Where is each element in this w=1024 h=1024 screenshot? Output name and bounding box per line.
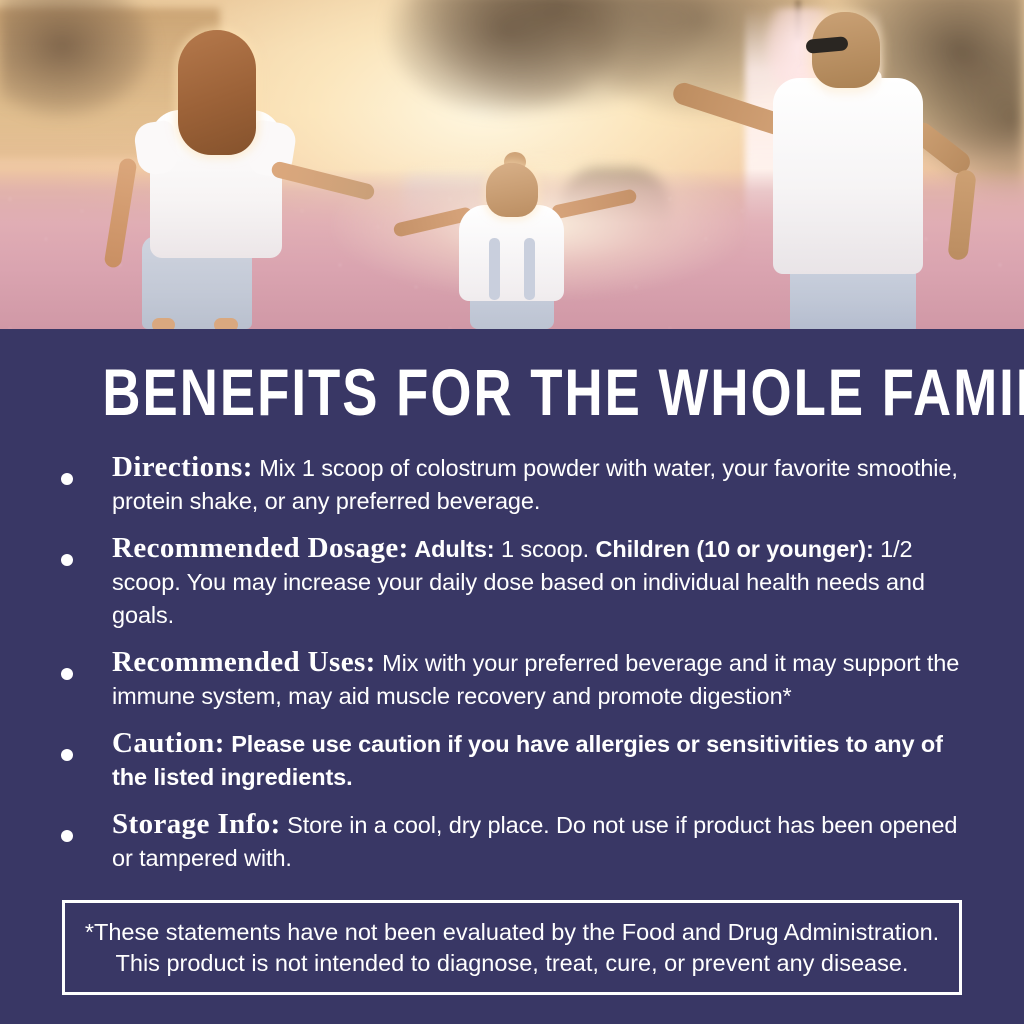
dosage-children-label: Children (10 or younger): <box>595 536 873 562</box>
girl-leg-left <box>152 318 175 329</box>
toddler-hair <box>486 163 538 217</box>
list-item-recommended-uses: Recommended Uses: Mix with your preferre… <box>52 646 982 713</box>
list-item-caution: Caution: Please use caution if you have … <box>52 727 982 794</box>
fda-disclaimer-box: *These statements have not been evaluate… <box>62 900 962 995</box>
list-item-label: Storage Info: <box>112 808 281 840</box>
list-item-label: Recommended Uses: <box>112 646 376 678</box>
list-item-storage-info: Storage Info: Store in a cool, dry place… <box>52 808 982 875</box>
bullet-dot-icon <box>61 473 73 485</box>
info-panel: BENEFITS FOR THE WHOLE FAMILY Directions… <box>0 329 1024 1024</box>
toddler-strap-right <box>524 238 535 300</box>
list-item-directions: Directions: Mix 1 scoop of colostrum pow… <box>52 451 982 518</box>
disclaimer-line-2: This product is not intended to diagnose… <box>116 948 909 979</box>
girl-leg-right <box>214 318 238 329</box>
hero-photo-family-sunset <box>0 0 1024 329</box>
list-item-label: Caution: <box>112 727 225 759</box>
toddler-strap-left <box>489 238 500 300</box>
list-item-body: Please use caution if you have allergies… <box>112 731 943 790</box>
list-item-text: Directions: Mix 1 scoop of colostrum pow… <box>112 451 982 518</box>
list-item-text: Recommended Dosage: Adults: 1 scoop. Chi… <box>112 532 982 632</box>
bullet-dot-icon <box>61 554 73 566</box>
list-item-recommended-dosage: Recommended Dosage: Adults: 1 scoop. Chi… <box>52 532 982 632</box>
man-white-polo <box>773 78 923 274</box>
list-item-text: Recommended Uses: Mix with your preferre… <box>112 646 982 713</box>
list-item-label: Directions: <box>112 451 253 483</box>
toddler-white-top <box>459 205 564 301</box>
girl-long-hair <box>178 30 256 155</box>
bullet-dot-icon <box>61 749 73 761</box>
list-item-label: Recommended Dosage: <box>112 532 409 564</box>
bullet-dot-icon <box>61 830 73 842</box>
bullet-dot-icon <box>61 668 73 680</box>
disclaimer-line-1: *These statements have not been evaluate… <box>85 917 939 948</box>
list-item-text: Storage Info: Store in a cool, dry place… <box>112 808 982 875</box>
benefits-list: Directions: Mix 1 scoop of colostrum pow… <box>52 451 982 889</box>
dosage-adults-value: 1 scoop. <box>495 536 596 562</box>
page-title: BENEFITS FOR THE WHOLE FAMILY <box>102 359 921 425</box>
list-item-text: Caution: Please use caution if you have … <box>112 727 982 794</box>
product-info-graphic: BENEFITS FOR THE WHOLE FAMILY Directions… <box>0 0 1024 1024</box>
dosage-adults-label: Adults: <box>409 536 495 562</box>
